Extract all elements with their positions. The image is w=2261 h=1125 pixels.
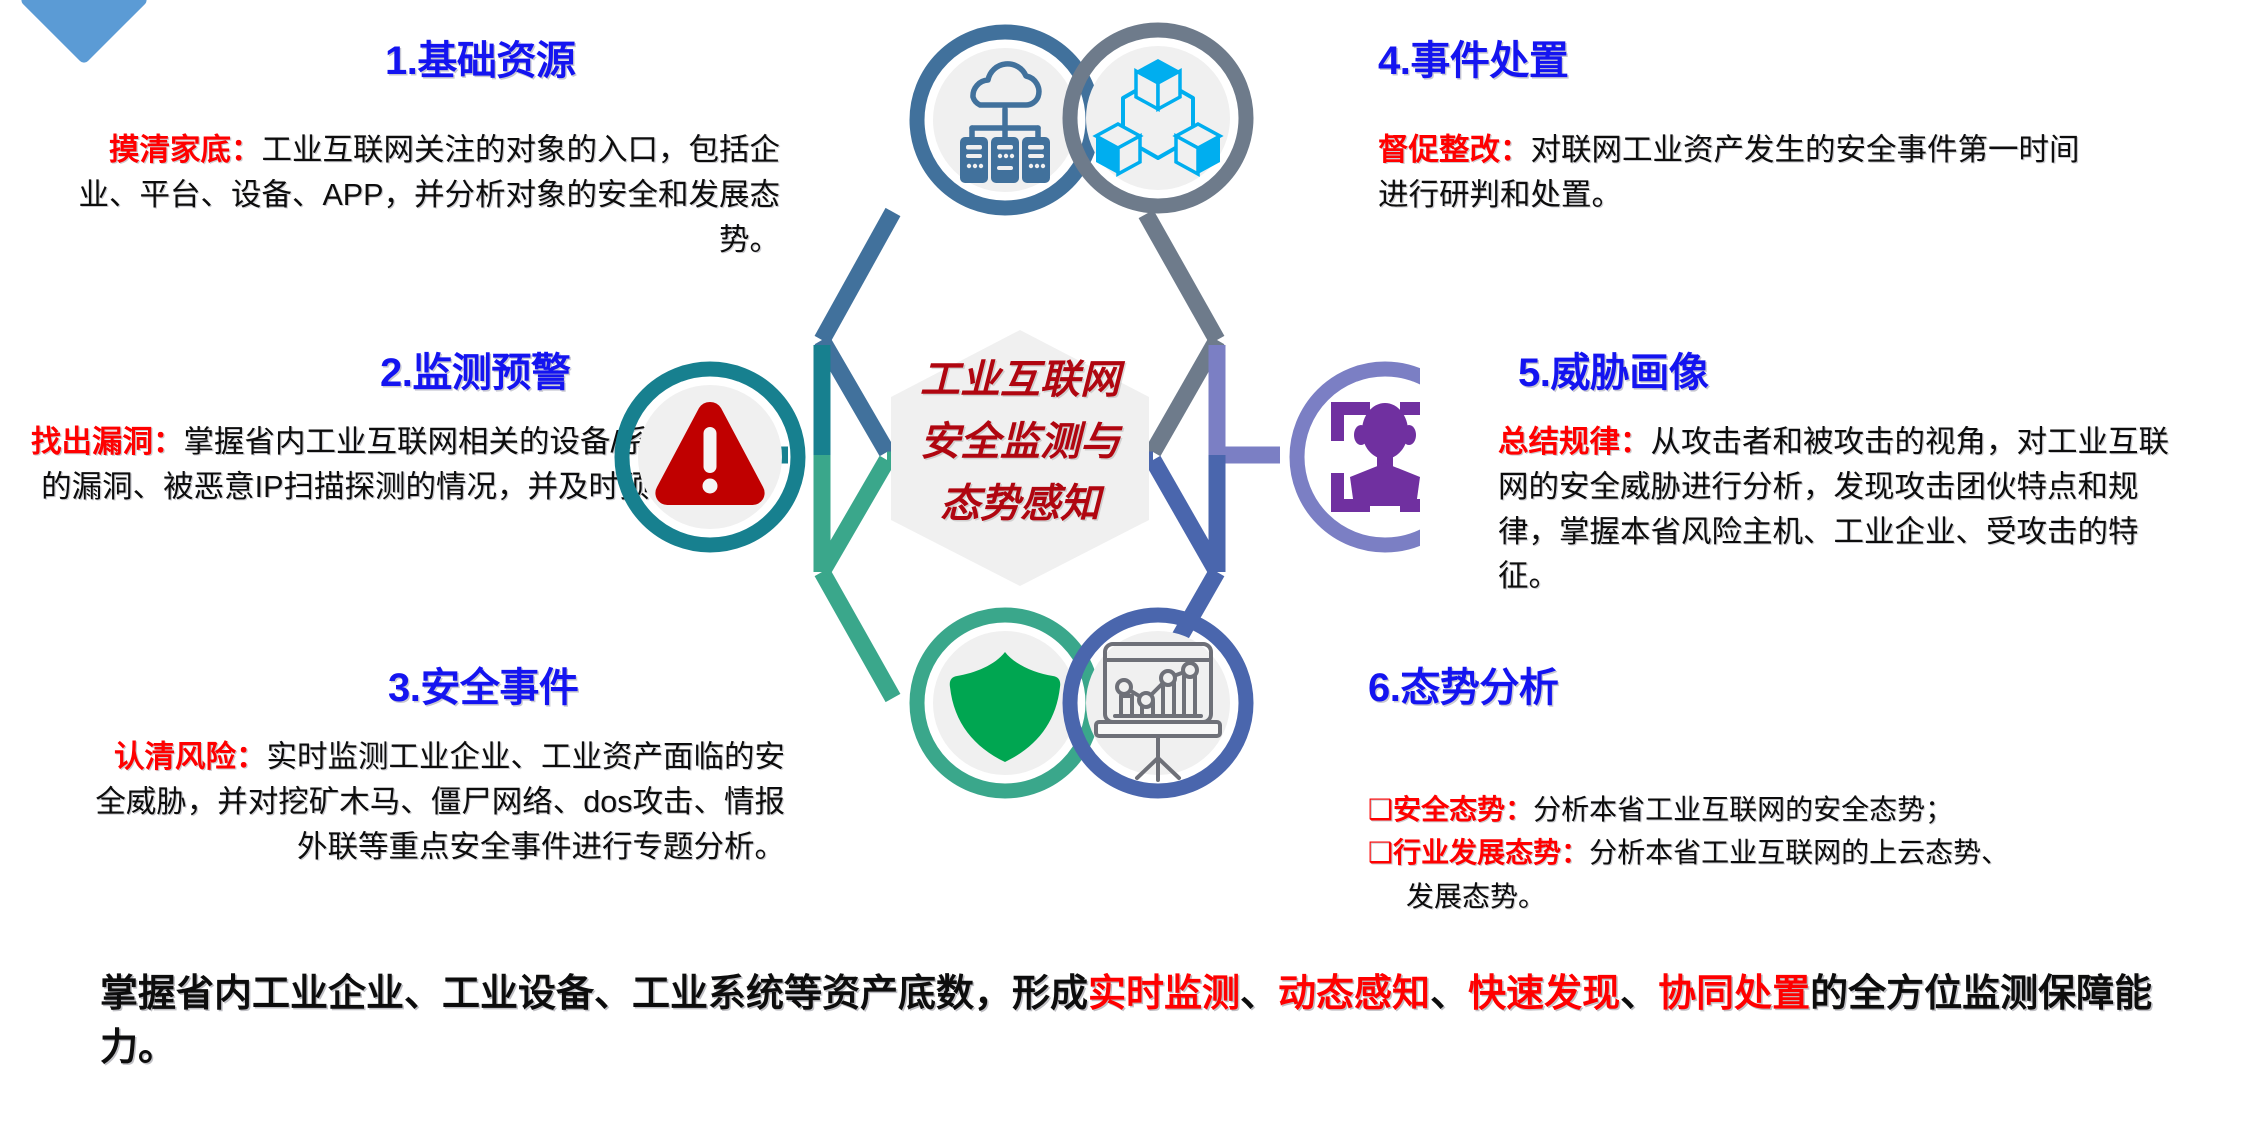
section-2-title: 监测预警: [412, 351, 570, 395]
section-6-bullet-1: ❑安全态势：分析本省工业互联网的安全态势；: [1368, 788, 2158, 831]
section-1-title: 基础资源: [417, 39, 575, 83]
center-title-line-2: 安全监测与: [920, 419, 1123, 464]
summary-part-1: 掌握省内工业企业、工业设备、工业系统等资产底数，形成: [100, 973, 1088, 1015]
section-6-bullet-2: ❑行业发展态势：分析本省工业互联网的上云态势、: [1368, 831, 2158, 874]
hexagon-diagram: 工业互联网 工业互联网 安全监测与 安全监测与 态势感知 态势感知: [600, 0, 1420, 960]
corner-chevron-decoration: [19, 0, 149, 65]
section-1-lead: 摸清家底：: [109, 133, 262, 167]
section-2-number: 2.: [380, 351, 412, 395]
summary-highlight-1: 实时监测: [1088, 973, 1240, 1015]
section-6-bullet-2-text: 分析本省工业互联网的上云态势、: [1589, 837, 2009, 868]
section-5-lead: 总结规律：: [1498, 425, 1651, 459]
summary-highlight-3: 快速发现: [1468, 973, 1620, 1015]
section-6-bullet-list: ❑安全态势：分析本省工业互联网的安全态势； ❑行业发展态势：分析本省工业互联网的…: [1368, 788, 2158, 918]
section-1-number: 1.: [385, 39, 417, 83]
section-6-bullet-2-label: 行业发展态势：: [1393, 837, 1589, 868]
node-5-face-recognition: [1297, 369, 1420, 545]
section-1-heading: 1.基础资源: [385, 28, 575, 86]
section-6-title: 态势分析: [1400, 666, 1558, 710]
section-6-bullet-1-text: 分析本省工业互联网的安全态势；: [1533, 794, 1953, 825]
section-5-number: 5.: [1518, 351, 1550, 395]
section-4-body: 督促整改：对联网工业资产发生的安全事件第一时间进行研判和处置。: [1378, 128, 2108, 218]
summary-sep-1: 、: [1240, 973, 1278, 1015]
cloud-servers-icon-boxes: [960, 137, 1050, 183]
summary-highlight-2: 动态感知: [1278, 973, 1430, 1015]
section-6-bullet-2-continuation: 发展态势。: [1368, 875, 2158, 918]
section-2-body: 找出漏洞：掌握省内工业互联网相关的设备/系统的漏洞、被恶意IP扫描探测的情况，并…: [30, 420, 680, 510]
node-6-presentation-chart: [1070, 615, 1246, 791]
section-5-heading: 5.威胁画像: [1518, 340, 1708, 398]
node-2-warning: [622, 369, 798, 545]
section-3-lead: 认清风险：: [114, 740, 267, 774]
section-4-title: 事件处置: [1410, 39, 1568, 83]
section-2-lead: 找出漏洞：: [31, 425, 184, 459]
section-3-title: 安全事件: [420, 666, 578, 710]
slide-canvas: 1.基础资源 摸清家底：工业互联网关注的对象的入口，包括企业、平台、设备、APP…: [0, 0, 2261, 1125]
section-5-title: 威胁画像: [1550, 351, 1708, 395]
summary-sep-3: 、: [1620, 973, 1658, 1015]
section-5-body: 总结规律：从攻击者和被攻击的视角，对工业互联网的安全威胁进行分析，发现攻击团伙特…: [1498, 420, 2198, 599]
center-title-line-1: 工业互联网: [920, 357, 1126, 402]
node-4-cubes-network: [1070, 30, 1246, 206]
center-title-line-3: 态势感知: [940, 481, 1105, 526]
summary-highlight-4: 协同处置: [1658, 973, 1810, 1015]
summary-sep-2: 、: [1430, 973, 1468, 1015]
section-3-number: 3.: [388, 666, 420, 710]
section-2-heading: 2.监测预警: [380, 340, 570, 398]
summary-statement: 掌握省内工业企业、工业设备、工业系统等资产底数，形成实时监测、动态感知、快速发现…: [100, 968, 2160, 1076]
section-3-heading: 3.安全事件: [388, 655, 578, 713]
